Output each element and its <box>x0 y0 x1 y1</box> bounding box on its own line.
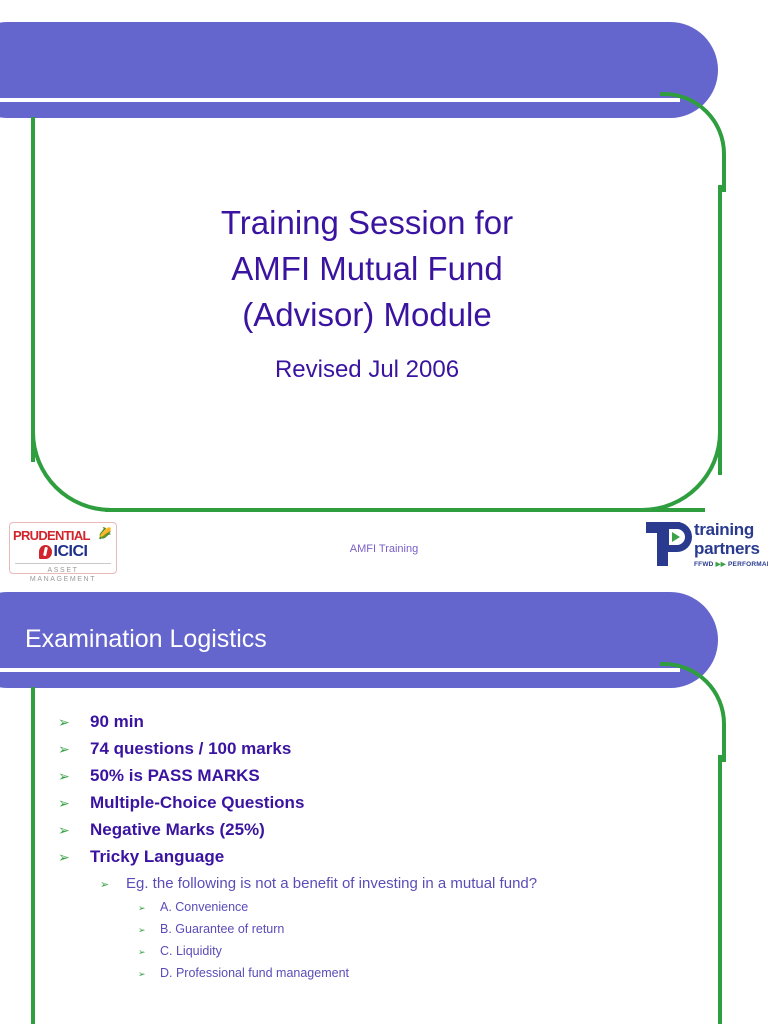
bullet-arrow-icon: ➢ <box>58 845 90 869</box>
slide-document-page: Training Session for AMFI Mutual Fund (A… <box>0 0 768 1024</box>
bullet-item-level-1: ➢50% is PASS MARKS <box>58 764 718 788</box>
bullet-text: B. Guarantee of return <box>160 920 284 939</box>
bullet-text: Multiple-Choice Questions <box>90 791 304 815</box>
bullet-text: 90 min <box>90 710 144 734</box>
training-partners-wordmark: training partners <box>694 520 760 558</box>
slide1-subtitle: Revised Jul 2006 <box>0 356 734 384</box>
tp-monogram-icon <box>646 522 692 566</box>
bullet-arrow-icon: ➢ <box>138 965 160 984</box>
bullet-arrow-icon: ➢ <box>58 737 90 761</box>
bullet-text: C. Liquidity <box>160 942 222 961</box>
slide-examination-logistics: Examination Logistics ➢90 min➢74 questio… <box>0 592 768 1024</box>
bullet-arrow-icon: ➢ <box>100 875 126 896</box>
bullet-text: Negative Marks (25%) <box>90 818 265 842</box>
bullet-arrow-icon: ➢ <box>58 710 90 734</box>
prudential-icici-logo: PRUDENTIAL 🌽 ICICI ASSET MANAGEMENT <box>9 522 117 574</box>
bullet-item-level-3: ➢C. Liquidity <box>138 942 718 962</box>
slide2-green-border-right <box>718 755 722 1024</box>
slide1-header-underline <box>0 98 680 102</box>
prudential-wordmark: PRUDENTIAL <box>13 528 90 543</box>
icici-wordmark: ICICI <box>54 543 88 561</box>
prudential-wordmark-row: PRUDENTIAL 🌽 <box>13 527 113 542</box>
prudential-tiger-icon: 🌽 <box>90 526 112 542</box>
tp-word-training: training <box>694 520 760 539</box>
bullet-item-level-3: ➢B. Guarantee of return <box>138 920 718 940</box>
slide1-green-border-bottom <box>105 508 705 512</box>
bullet-item-level-3: ➢A. Convenience <box>138 898 718 918</box>
slide2-bullet-list: ➢90 min➢74 questions / 100 marks➢50% is … <box>58 710 718 984</box>
bullet-item-level-1: ➢Negative Marks (25%) <box>58 818 718 842</box>
slide2-green-border-left <box>31 687 35 1024</box>
tp-tagline-post: PERFORMANCE <box>728 561 768 568</box>
bullet-text: 74 questions / 100 marks <box>90 737 291 761</box>
bullet-text: D. Professional fund management <box>160 964 349 983</box>
slide1-title-line-3: (Advisor) Module <box>0 292 734 338</box>
slide2-title: Examination Logistics <box>25 624 267 654</box>
bullet-item-level-3: ➢D. Professional fund management <box>138 964 718 984</box>
bullet-item-level-2: ➢Eg. the following is not a benefit of i… <box>100 873 718 896</box>
slide1-title-line-1: Training Session for <box>0 200 734 246</box>
bullet-item-level-1: ➢74 questions / 100 marks <box>58 737 718 761</box>
icici-flame-icon <box>39 545 52 559</box>
logo-divider <box>15 563 111 564</box>
bullet-item-level-1: ➢Multiple-Choice Questions <box>58 791 718 815</box>
training-partners-logo: training partners FFWD ▶▶ PERFORMANCE <box>646 520 764 576</box>
tp-tagline: FFWD ▶▶ PERFORMANCE <box>694 560 768 568</box>
bullet-item-level-1: ➢Tricky Language <box>58 845 718 869</box>
slide2-header-underline <box>0 668 680 672</box>
bullet-text: Eg. the following is not a benefit of in… <box>126 873 537 894</box>
tp-word-partners: partners <box>694 539 760 558</box>
tp-tagline-pre: FFWD <box>694 561 714 568</box>
tp-green-arrow-icon <box>672 532 680 542</box>
bullet-arrow-icon: ➢ <box>138 943 160 962</box>
slide-title-slide: Training Session for AMFI Mutual Fund (A… <box>0 0 768 592</box>
bullet-arrow-icon: ➢ <box>138 899 160 918</box>
bullet-arrow-icon: ➢ <box>58 791 90 815</box>
icici-wordmark-row: ICICI <box>13 543 113 561</box>
bullet-text: 50% is PASS MARKS <box>90 764 260 788</box>
slide1-title-line-2: AMFI Mutual Fund <box>0 246 734 292</box>
slide1-green-border-bottom-left-corner <box>31 432 111 512</box>
slide1-header-banner <box>0 22 718 118</box>
bullet-text: Tricky Language <box>90 845 224 869</box>
bullet-arrow-icon: ➢ <box>58 764 90 788</box>
asset-management-label: ASSET MANAGEMENT <box>13 566 113 584</box>
fast-forward-icon: ▶▶ <box>716 561 726 568</box>
bullet-text: A. Convenience <box>160 898 248 917</box>
slide1-title: Training Session for AMFI Mutual Fund (A… <box>0 200 734 338</box>
bullet-arrow-icon: ➢ <box>138 921 160 940</box>
bullet-item-level-1: ➢90 min <box>58 710 718 734</box>
bullet-arrow-icon: ➢ <box>58 818 90 842</box>
